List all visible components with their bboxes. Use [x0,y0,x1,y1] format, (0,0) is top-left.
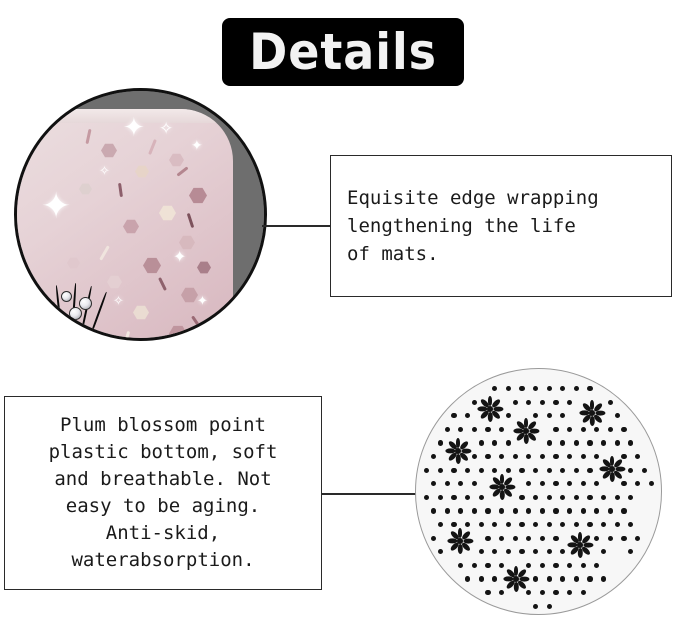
backing-dot [581,563,586,568]
backing-dot [615,413,620,418]
backing-dot [547,440,552,445]
backing-dot [526,508,531,513]
backing-dot [479,495,484,500]
backing-dot [472,427,477,432]
backing-dot [424,495,429,500]
connector-line-bottom [321,493,421,495]
backing-dot [608,427,613,432]
backing-dot [506,549,511,554]
flower-center [523,428,529,434]
flower-center [455,448,461,454]
backing-dot [581,481,586,486]
backing-dot [587,522,592,527]
backing-dot [519,468,524,473]
backing-dot [553,427,558,432]
backing-dot [574,522,579,527]
backing-dot [465,495,470,500]
backing-dot [451,468,456,473]
mat-surface: ✦ ✦ ✧ ✦ ✧ ✦ ✧ ✦ ✧ ✦ [14,109,233,341]
backing-dot [492,440,497,445]
backing-dot [513,400,518,405]
lash-strand [89,292,107,338]
backing-dot [465,522,470,527]
backing-dot [451,522,456,527]
backing-dot [587,576,592,581]
backing-dot [553,563,558,568]
backing-dot [540,590,545,595]
plastic-backing-photo [415,368,662,615]
backing-dot [445,508,450,513]
backing-dot [628,522,633,527]
flower-center [457,538,463,544]
backing-dot [594,427,599,432]
backing-dot [499,536,504,541]
backing-dot [533,522,538,527]
backing-dot [574,440,579,445]
backing-dot [574,495,579,500]
backing-dot [560,522,565,527]
backing-dot [553,536,558,541]
backing-dot [553,400,558,405]
sparkle-icon: ✦ [197,295,208,308]
confetti-stick [158,277,167,291]
confetti-stick [123,331,130,341]
backing-dot [513,536,518,541]
flower-center [487,406,493,412]
backing-dot [601,576,606,581]
backing-dot [506,440,511,445]
backing-dot [628,440,633,445]
backing-dot [553,590,558,595]
backing-dot [547,468,552,473]
backing-dot-pattern [416,369,661,614]
sequin [197,261,211,274]
backing-dot [472,400,477,405]
rhinestone [31,313,42,324]
sequin [143,257,161,274]
backing-dot [485,508,490,513]
backing-dot [581,427,586,432]
backing-dot [540,400,545,405]
backing-dot [635,536,640,541]
backing-dot [540,536,545,541]
backing-dot [431,454,436,459]
backing-dot [540,563,545,568]
backing-dot [479,522,484,527]
rhinestone [49,327,62,340]
backing-dot [533,495,538,500]
backing-dot [519,549,524,554]
backing-dot [628,549,633,554]
lash-strand [80,286,92,335]
backing-dot [581,508,586,513]
backing-dot [465,576,470,581]
backing-dot [492,386,497,391]
backing-dot [479,468,484,473]
backing-dot [635,454,640,459]
backing-dot [499,454,504,459]
backing-dot [479,576,484,581]
backing-dot [621,454,626,459]
backing-dot [601,522,606,527]
backing-dot [560,386,565,391]
sequin [181,287,198,303]
backing-dot [506,468,511,473]
rhinestone [61,291,72,302]
rhinestone [59,317,72,330]
flower-center [609,466,615,472]
backing-dot [533,604,538,609]
sparkle-icon: ✦ [173,249,186,265]
rhinestone [69,307,82,320]
sparkle-icon: ✧ [99,165,110,178]
backing-dot [492,468,497,473]
backing-dot [472,454,477,459]
backing-dot [547,604,552,609]
flower-center [499,484,505,490]
backing-dot [458,427,463,432]
backing-dot [533,386,538,391]
callout-edge-wrapping-text: Equisite edge wrapping lengthening the l… [347,184,661,268]
backing-dot [574,386,579,391]
sparkle-icon: ✧ [159,121,173,138]
backing-dot [499,590,504,595]
backing-dot [567,427,572,432]
backing-dot [506,413,511,418]
backing-dot [506,386,511,391]
sequin [133,305,149,320]
backing-dot [574,576,579,581]
rhinestone [45,301,56,312]
backing-dot [621,536,626,541]
backing-dot [601,549,606,554]
confetti-stick [187,213,194,228]
sequin [67,257,80,269]
backing-dot [445,481,450,486]
backing-dot [540,454,545,459]
backing-dot [547,522,552,527]
callout-plastic-bottom-text: Plum blossom point plastic bottom, soft … [13,412,313,574]
confetti-stick [148,139,157,155]
backing-dot [485,536,490,541]
backing-dot [431,481,436,486]
backing-dot [567,400,572,405]
backing-dot [567,454,572,459]
backing-dot [594,508,599,513]
sparkle-icon: ✦ [41,189,71,225]
backing-dot [438,468,443,473]
backing-dot [506,522,511,527]
backing-dot [458,563,463,568]
backing-dot [621,481,626,486]
lash-strand [14,332,15,341]
backing-dot [594,481,599,486]
backing-dot [485,454,490,459]
backing-dot [472,563,477,568]
sequin [189,187,207,204]
backing-dot [451,413,456,418]
backing-dot [635,481,640,486]
backing-dot [533,549,538,554]
confetti-stick [176,166,188,176]
backing-dot [431,508,436,513]
backing-dot [587,495,592,500]
backing-dot [424,468,429,473]
sequin [123,219,139,234]
backing-dot [465,468,470,473]
backing-dot [540,481,545,486]
sparkle-icon: ✦ [123,115,145,141]
backing-dot [615,522,620,527]
backing-dot [533,468,538,473]
backing-dot [492,576,497,581]
photo-background: ✦ ✦ ✧ ✦ ✧ ✦ ✧ ✦ ✧ ✦ [17,91,264,338]
details-banner: Details [222,18,464,86]
backing-dot [553,508,558,513]
backing-dot [560,495,565,500]
backing-dot [608,508,613,513]
confetti-stick [191,315,202,329]
backing-dot [458,508,463,513]
backing-dot [608,400,613,405]
backing-dot [581,590,586,595]
backing-dot [533,576,538,581]
backing-dot [628,495,633,500]
backing-dot [567,590,572,595]
backing-dot [499,508,504,513]
backing-dot [553,454,558,459]
sequin [79,183,92,195]
confetti-stick [85,129,91,144]
rhinestone [17,325,28,336]
backing-dot [560,468,565,473]
backing-dot [479,440,484,445]
backing-dot [567,563,572,568]
backing-dot [526,481,531,486]
backing-dot [438,440,443,445]
backing-dot [445,427,450,432]
backing-dot [649,481,654,486]
backing-dot [574,468,579,473]
backing-dot [533,413,538,418]
backing-dot [587,468,592,473]
backing-dot [519,386,524,391]
backing-dot [621,427,626,432]
callout-plastic-bottom: Plum blossom point plastic bottom, soft … [4,396,322,590]
backing-dot [621,508,626,513]
backing-dot [526,400,531,405]
backing-dot [485,563,490,568]
sequin [159,205,176,221]
rhinestone [79,297,92,310]
backing-dot [560,413,565,418]
backing-dot [567,481,572,486]
backing-dot [581,454,586,459]
mat-corner-photo: ✦ ✦ ✧ ✦ ✧ ✦ ✧ ✦ ✧ ✦ [14,88,267,341]
backing-dot [513,454,518,459]
backing-dot [615,495,620,500]
backing-dot [438,522,443,527]
backing-dot [540,508,545,513]
backing-dot [560,440,565,445]
backing-dot [587,440,592,445]
backing-dot [547,576,552,581]
backing-dot [608,536,613,541]
backing-dot [526,563,531,568]
sparkle-icon: ✦ [191,139,203,153]
backing-dot [587,386,592,391]
lash-strand [14,301,16,340]
backing-dot [492,549,497,554]
backing-dot [642,468,647,473]
backing-dot [499,563,504,568]
sequin [101,143,117,158]
backing-dot [594,563,599,568]
backing-dot [492,522,497,527]
backing-dot [553,481,558,486]
backing-dot [479,549,484,554]
confetti-stick [99,245,110,260]
backing-dot [472,481,477,486]
callout-edge-wrapping: Equisite edge wrapping lengthening the l… [330,155,672,297]
backing-dot [615,440,620,445]
sequin [107,275,122,289]
backing-dot [485,590,490,595]
sequin [169,153,184,167]
backing-dot [451,495,456,500]
flower-center [589,410,595,416]
backing-dot [465,413,470,418]
backing-dot [438,495,443,500]
backing-dot [547,413,552,418]
backing-dot [547,386,552,391]
confetti-stick [118,183,123,197]
backing-dot [526,590,531,595]
backing-dot [485,427,490,432]
backing-dot [601,440,606,445]
flower-center [577,542,583,548]
backing-dot [560,576,565,581]
backing-dot [567,508,572,513]
sequin [135,165,149,178]
backing-dot [519,522,524,527]
backing-dot [499,427,504,432]
sequin [169,325,187,341]
backing-dot [431,536,436,541]
backing-dot [526,454,531,459]
backing-dot [519,495,524,500]
backing-dot [560,549,565,554]
backing-dot [526,536,531,541]
flower-center [513,576,519,582]
sparkle-icon: ✧ [113,295,124,308]
backing-dot [547,495,552,500]
backing-dot [513,508,518,513]
backing-dot [458,481,463,486]
connector-line-top [262,225,332,227]
backing-dot [628,468,633,473]
page-title: Details [249,27,437,77]
backing-dot [594,536,599,541]
backing-dot [438,549,443,554]
backing-dot [594,454,599,459]
backing-dot [547,549,552,554]
backing-dot [601,495,606,500]
backing-dot [472,508,477,513]
